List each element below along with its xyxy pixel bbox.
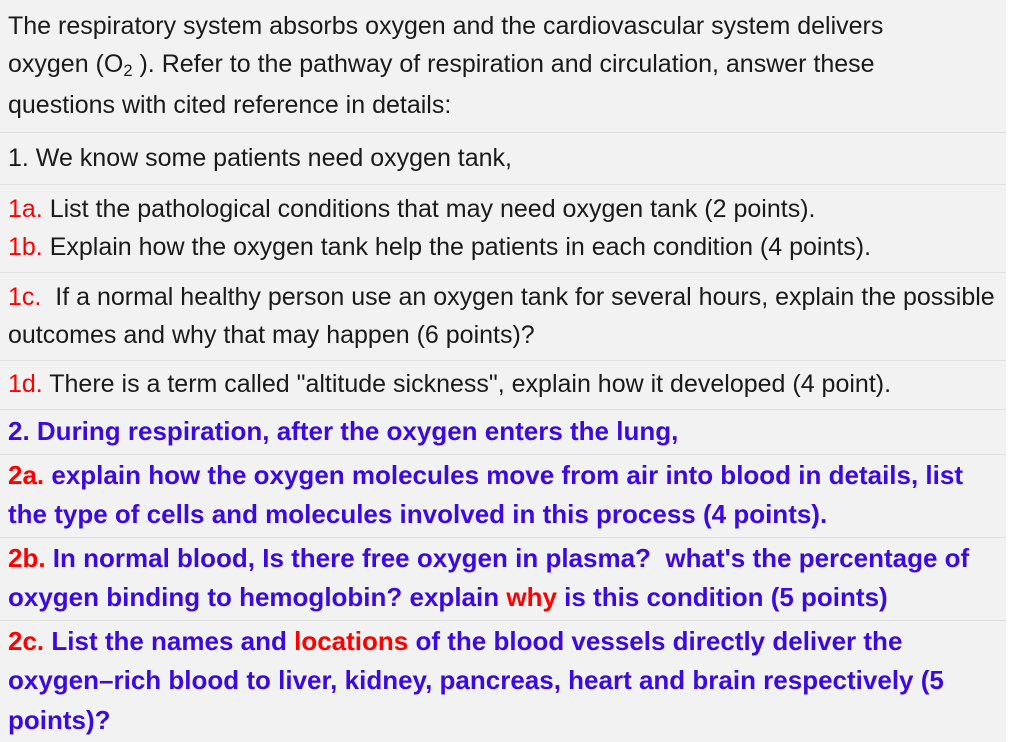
- intro-line-2-prefix: oxygen (O: [8, 50, 123, 78]
- intro-block: The respiratory system absorbs oxygen an…: [0, 0, 1006, 133]
- question-2b: 2b. In normal blood, Is there free oxyge…: [8, 539, 996, 618]
- question-sheet: The respiratory system absorbs oxygen an…: [0, 0, 1024, 738]
- question-1a: 1a. List the pathological conditions tha…: [8, 190, 996, 228]
- question-2b-label: 2b.: [8, 543, 46, 573]
- question-1a-label: 1a.: [8, 195, 43, 223]
- intro-line-2-suffix: ). Refer to the pathway of respiration a…: [133, 50, 875, 78]
- question-2c-text-part-1: List the names and: [44, 626, 294, 656]
- question-1c-label: 1c.: [8, 283, 41, 311]
- o2-subscript: 2: [123, 62, 132, 80]
- question-2c-block: 2c. List the names and locations of the …: [0, 621, 1006, 742]
- question-2-heading-block: 2. During respiration, after the oxygen …: [0, 410, 1006, 455]
- question-2a-block: 2a. explain how the oxygen molecules mov…: [0, 455, 1006, 538]
- question-1c: 1c. If a normal healthy person use an ox…: [8, 278, 996, 354]
- question-2c-label: 2c.: [8, 626, 44, 656]
- question-2b-highlight: why: [506, 582, 557, 612]
- question-2a-label: 2a.: [8, 460, 44, 490]
- question-1c-text: If a normal healthy person use an oxygen…: [8, 283, 1002, 349]
- question-1b-text: Explain how the oxygen tank help the pat…: [43, 233, 871, 261]
- question-2b-block: 2b. In normal blood, Is there free oxyge…: [0, 538, 1006, 621]
- question-1c-block: 1c. If a normal healthy person use an ox…: [0, 273, 1006, 361]
- question-2b-text-part-2: is this condition (5 points): [557, 582, 888, 612]
- intro-line-1: The respiratory system absorbs oxygen an…: [8, 12, 883, 40]
- question-1d: 1d. There is a term called "altitude sic…: [8, 365, 996, 403]
- intro-line-3: questions with cited reference in detail…: [8, 91, 451, 119]
- question-1b: 1b. Explain how the oxygen tank help the…: [8, 228, 996, 266]
- question-2-heading: 2. During respiration, after the oxygen …: [8, 412, 996, 452]
- question-2c: 2c. List the names and locations of the …: [8, 622, 996, 741]
- question-1d-label: 1d.: [8, 370, 43, 398]
- question-1ab-block: 1a. List the pathological conditions tha…: [0, 185, 1006, 273]
- question-2c-highlight: locations: [294, 626, 408, 656]
- intro-paragraph: The respiratory system absorbs oxygen an…: [8, 7, 996, 124]
- question-1a-text: List the pathological conditions that ma…: [43, 195, 816, 223]
- question-1b-label: 1b.: [8, 233, 43, 261]
- question-1-heading-block: 1. We know some patients need oxygen tan…: [0, 133, 1006, 185]
- question-1d-text: There is a term called "altitude sicknes…: [43, 370, 891, 398]
- question-1-heading: 1. We know some patients need oxygen tan…: [8, 139, 996, 177]
- question-1d-block: 1d. There is a term called "altitude sic…: [0, 361, 1006, 410]
- question-2a: 2a. explain how the oxygen molecules mov…: [8, 456, 996, 535]
- question-2a-text: explain how the oxygen molecules move fr…: [8, 460, 970, 530]
